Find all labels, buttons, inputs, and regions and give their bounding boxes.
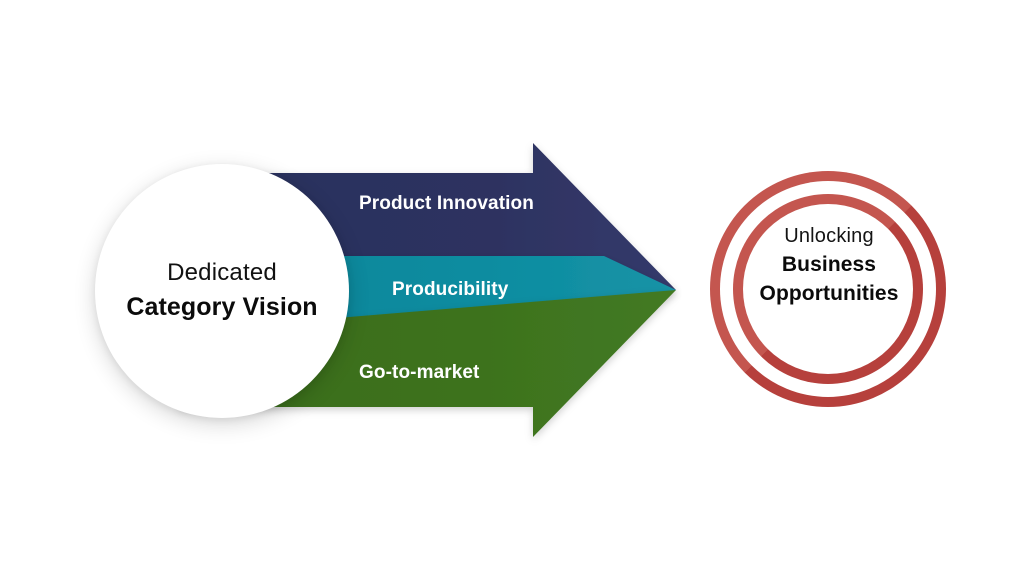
vision-circle[interactable]: Dedicated Category Vision [95,164,349,418]
arrow-band-label-product-innovation: Product Innovation [359,193,534,215]
arrow-band-label-go-to-market: Go-to-market [359,362,480,384]
arrow-band-label-producibility: Producibility [392,279,508,301]
target-circle-line3: Opportunities [688,280,970,307]
vision-circle-line1: Dedicated [167,258,277,288]
process-arrow-diagram: Product Innovation Producibility Go-to-m… [0,0,1024,576]
target-circle-line1: Unlocking [688,223,970,249]
target-circle-line2: Business [688,251,970,278]
vision-circle-line2: Category Vision [126,291,317,324]
target-circle[interactable]: Unlocking Business Opportunities [710,171,948,409]
target-circle-text: Unlocking Business Opportunities [688,223,970,308]
